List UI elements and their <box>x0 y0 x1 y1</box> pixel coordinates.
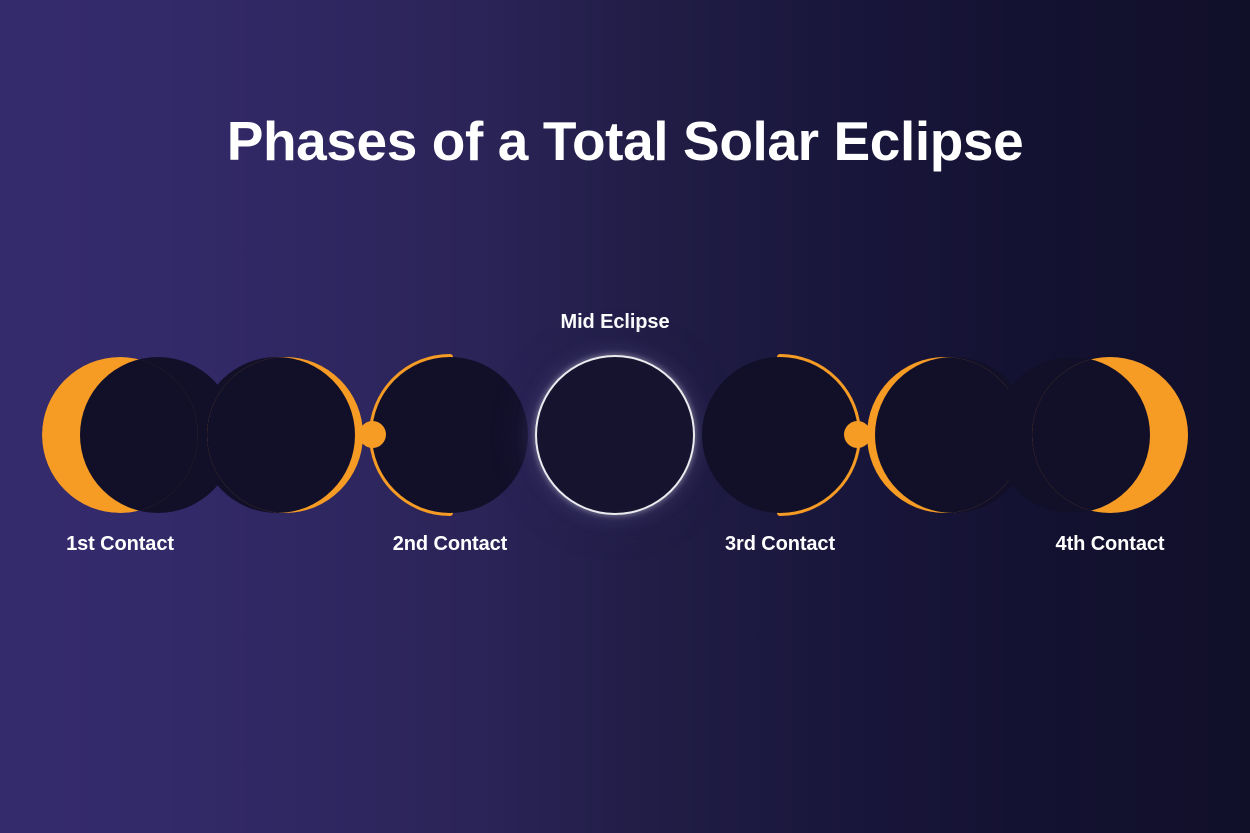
partial-eclipse-icon <box>1032 357 1188 513</box>
phase-label-mid-eclipse: Mid Eclipse <box>485 311 745 334</box>
eclipse-phase-2 <box>207 357 363 513</box>
eclipse-phase-1: 1st Contact <box>42 357 198 513</box>
eclipse-phase-5: 3rd Contact <box>702 357 858 513</box>
partial-eclipse-icon <box>207 357 363 513</box>
phase-label-3rd-contact: 3rd Contact <box>650 533 910 556</box>
moon-disc <box>702 357 858 513</box>
eclipse-phase-3: 2nd Contact <box>372 357 528 513</box>
partial-eclipse-icon <box>42 357 198 513</box>
moon-disc <box>372 357 528 513</box>
moon-disc <box>540 360 690 510</box>
eclipse-phase-4: Mid Eclipse <box>537 357 693 513</box>
diamond-ring-icon <box>702 357 858 513</box>
diamond-ring-icon <box>372 357 528 513</box>
phase-label-1st-contact: 1st Contact <box>0 533 250 556</box>
eclipse-phase-7: 4th Contact <box>1032 357 1188 513</box>
baily-bead-icon <box>359 421 386 448</box>
phase-label-4th-contact: 4th Contact <box>980 533 1240 556</box>
totality-corona-icon <box>537 357 693 513</box>
eclipse-infographic: Phases of a Total Solar Eclipse 1st Cont… <box>0 0 1250 833</box>
corona-ring <box>537 357 693 513</box>
eclipse-phase-sequence: 1st Contact 2nd Contact <box>0 357 1250 513</box>
phase-label-2nd-contact: 2nd Contact <box>320 533 580 556</box>
page-title: Phases of a Total Solar Eclipse <box>0 113 1250 171</box>
